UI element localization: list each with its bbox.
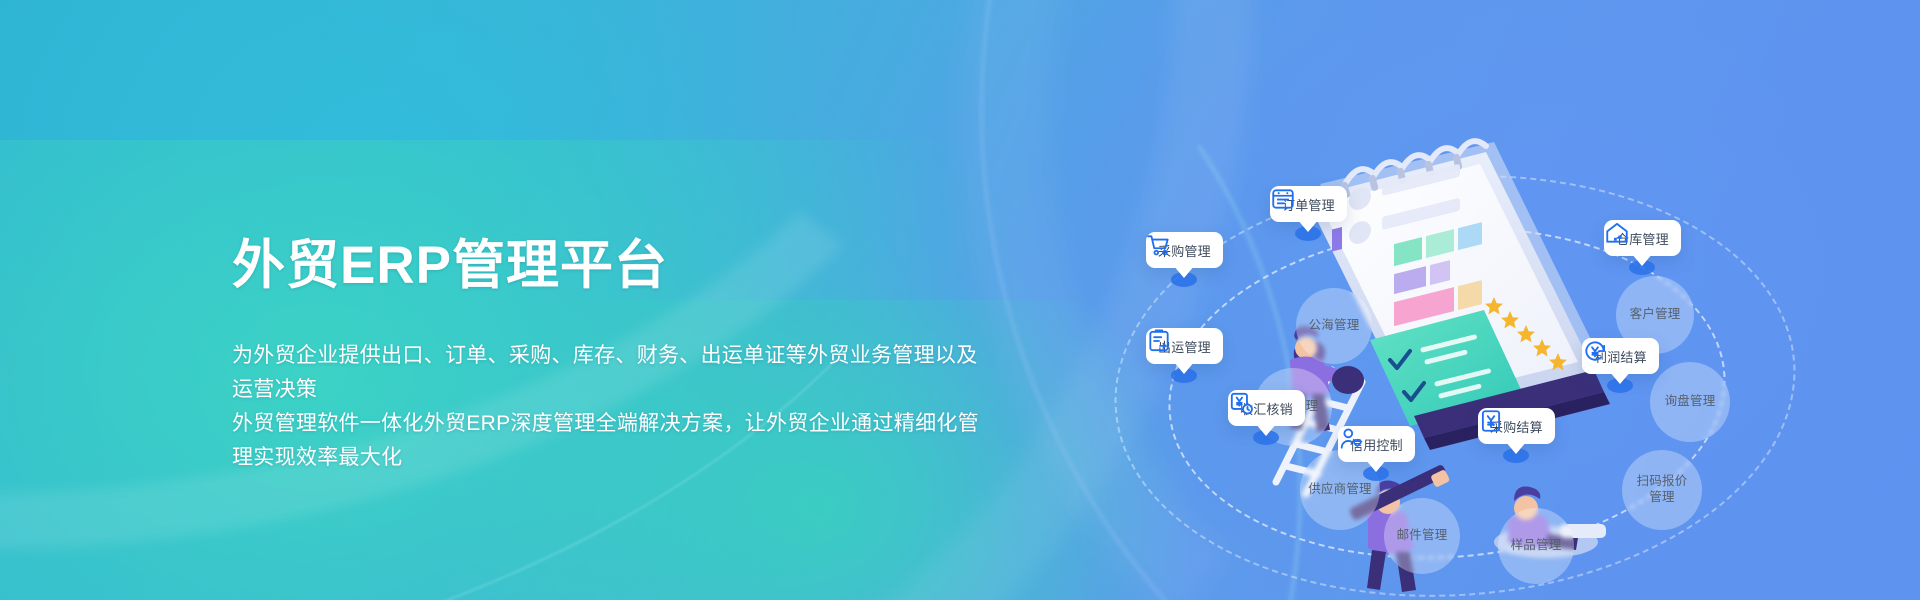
hero-banner: 外贸ERP管理平台 为外贸企业提供出口、订单、采购、库存、财务、出运单证等外贸业… <box>0 0 1920 600</box>
hero-description-line-1: 为外贸企业提供出口、订单、采购、库存、财务、出运单证等外贸业务管理以及运营决策 <box>232 339 992 407</box>
page-title: 外贸ERP管理平台 <box>232 236 992 295</box>
yuan-doc-icon <box>1478 408 1504 434</box>
chip-label: 询盘管理 <box>1665 394 1716 410</box>
badge-credit-control[interactable]: 信用控制 <box>1338 426 1415 462</box>
yuan-refresh-icon <box>1582 338 1608 364</box>
badge-shipping-management[interactable]: 出运管理 <box>1146 328 1223 364</box>
erp-modules-illustration: 公海管理 商品管理 供应商管理 邮件管理 样品管理 客户管理 询盘管理 扫码报价… <box>1120 120 1910 600</box>
badge-purchase-settlement[interactable]: 采购结算 <box>1478 408 1555 444</box>
chip-mail-management[interactable]: 邮件管理 <box>1384 498 1460 574</box>
badge-order-management[interactable]: 订单管理 <box>1270 186 1347 222</box>
hero-description: 为外贸企业提供出口、订单、采购、库存、财务、出运单证等外贸业务管理以及运营决策 … <box>232 339 992 475</box>
chip-label: 供应商管理 <box>1308 482 1372 498</box>
user-heart-icon <box>1338 426 1364 452</box>
chip-scan-quote-management[interactable]: 扫码报价管理 <box>1622 450 1702 530</box>
clipboard-ship-icon <box>1146 328 1172 354</box>
chip-sample-management[interactable]: 样品管理 <box>1498 508 1574 584</box>
cart-icon <box>1146 232 1172 258</box>
chip-label: 样品管理 <box>1511 538 1562 554</box>
hero-description-line-2: 外贸管理软件一体化外贸ERP深度管理全端解决方案，让外贸企业通过精细化管理实现效… <box>232 407 992 475</box>
chip-public-sea-management[interactable]: 公海管理 <box>1296 288 1372 364</box>
badge-fx-settlement[interactable]: 收汇核销 <box>1228 390 1305 426</box>
badge-warehouse-management[interactable]: 仓库管理 <box>1604 220 1681 256</box>
hero-copy: 外贸ERP管理平台 为外贸企业提供出口、订单、采购、库存、财务、出运单证等外贸业… <box>232 236 992 475</box>
order-icon <box>1270 186 1296 212</box>
warehouse-icon <box>1604 220 1630 246</box>
chip-inquiry-management[interactable]: 询盘管理 <box>1650 362 1730 442</box>
yuan-clock-icon <box>1228 390 1254 416</box>
badge-purchase-management[interactable]: 采购管理 <box>1146 232 1223 268</box>
chip-label: 扫码报价管理 <box>1634 474 1690 505</box>
chip-label: 客户管理 <box>1630 307 1681 323</box>
chip-label: 邮件管理 <box>1397 528 1448 544</box>
badge-profit-settlement[interactable]: 利润结算 <box>1582 338 1659 374</box>
chip-label: 公海管理 <box>1309 318 1360 334</box>
